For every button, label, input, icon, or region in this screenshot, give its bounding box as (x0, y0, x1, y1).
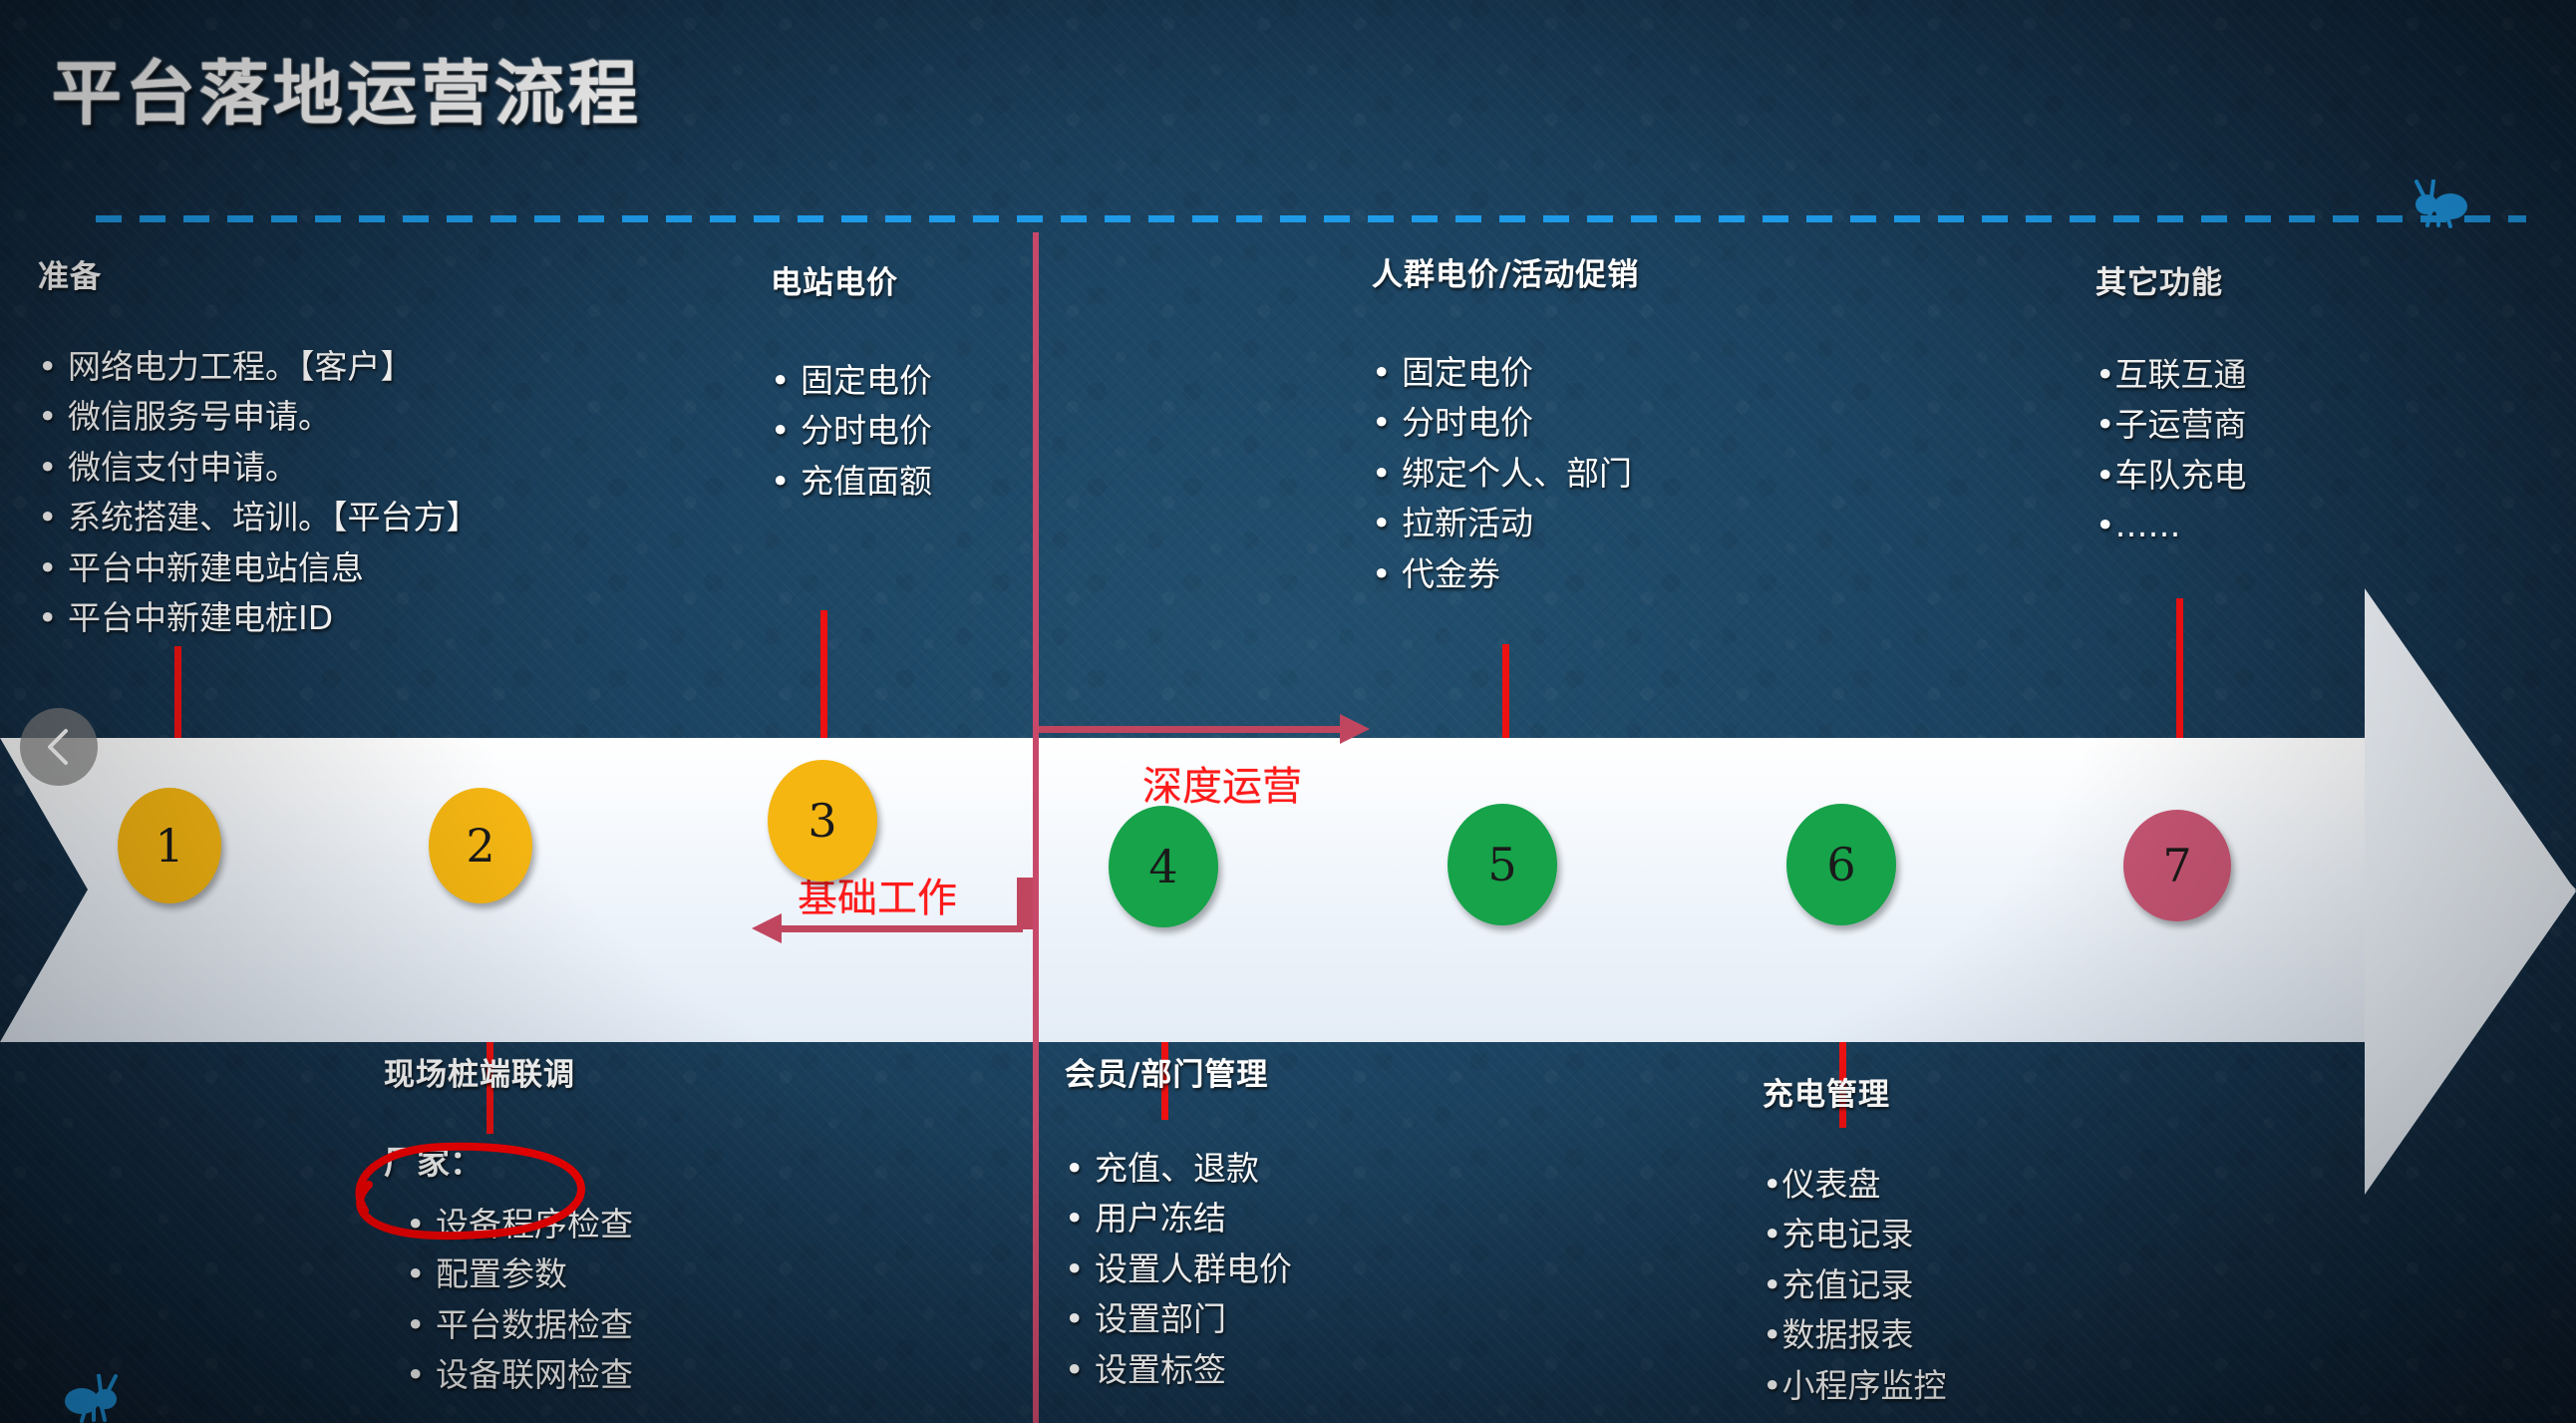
phase-arrow-head-basic (752, 913, 782, 943)
list-item: 微信支付申请。 (38, 443, 479, 493)
section-bullet-list: 固定电价 分时电价 绑定个人、部门 拉新活动 代金券 (1372, 348, 1639, 599)
list-item: 设置人群电价 (1065, 1245, 1292, 1294)
step-circle-5[interactable]: 5 (1448, 804, 1557, 925)
section-station-pricing: 电站电价 固定电价 分时电价 充值面额 (771, 257, 932, 507)
connector-tick (1502, 644, 1509, 738)
list-item: 网络电力工程。【客户】 (38, 342, 479, 392)
list-item: 设置部门 (1065, 1294, 1292, 1344)
section-crowd-pricing-promotion: 人群电价/活动促销 固定电价 分时电价 绑定个人、部门 拉新活动 代金券 (1372, 249, 1639, 599)
section-heading: 现场桩端联调 (384, 1049, 633, 1094)
list-item: 小程序监控 (1763, 1361, 1946, 1411)
dashed-divider-rule (96, 215, 2526, 222)
list-item: 平台中新建电站信息 (38, 543, 479, 593)
section-heading: 其它功能 (2095, 257, 2246, 302)
section-preparation: 准备 网络电力工程。【客户】 微信服务号申请。 微信支付申请。 系统搭建、培训。… (38, 251, 479, 644)
section-bullet-list: 互联互通 子运营商 车队充电 …… (2095, 350, 2246, 551)
section-bullet-list: 网络电力工程。【客户】 微信服务号申请。 微信支付申请。 系统搭建、培训。【平台… (38, 342, 479, 644)
back-button[interactable] (20, 708, 98, 786)
list-item: 互联互通 (2095, 350, 2246, 400)
section-heading: 准备 (38, 251, 479, 296)
list-item: 分时电价 (771, 406, 932, 456)
section-member-department-management: 会员/部门管理 充值、退款 用户冻结 设置人群电价 设置部门 设置标签 (1065, 1049, 1292, 1395)
list-item: 用户冻结 (1065, 1194, 1292, 1244)
connector-tick (820, 610, 827, 738)
list-item: 充电记录 (1763, 1210, 1946, 1259)
step-number: 4 (1148, 840, 1177, 893)
list-item: 充值、退款 (1065, 1144, 1292, 1194)
step-number: 3 (807, 794, 836, 848)
section-heading: 会员/部门管理 (1065, 1049, 1292, 1094)
list-item: 仪表盘 (1763, 1160, 1946, 1210)
step-circle-4[interactable]: 4 (1109, 806, 1218, 927)
step-number: 1 (155, 819, 183, 873)
list-item: 固定电价 (1372, 348, 1639, 398)
list-item: 充值记录 (1763, 1260, 1946, 1310)
step-circle-1[interactable]: 1 (118, 788, 221, 903)
ant-icon (2401, 179, 2470, 237)
list-item: 系统搭建、培训。【平台方】 (38, 493, 479, 542)
section-bullet-list: 仪表盘 充电记录 充值记录 数据报表 小程序监控 (1763, 1160, 1946, 1411)
connector-tick (174, 646, 181, 738)
list-item: …… (2095, 501, 2246, 550)
phase-divider-line (1033, 232, 1039, 1423)
phase-arrow-line-deep (1039, 726, 1346, 733)
ant-icon (62, 1374, 132, 1423)
section-bullet-list: 充值、退款 用户冻结 设置人群电价 设置部门 设置标签 (1065, 1144, 1292, 1395)
step-number: 7 (2162, 839, 2191, 892)
list-item: 微信服务号申请。 (38, 392, 479, 442)
phase-label-deep: 深度运营 (1142, 754, 1302, 812)
step-number: 6 (1826, 838, 1855, 891)
section-heading: 电站电价 (771, 257, 932, 302)
list-item: 配置参数 (406, 1249, 633, 1299)
list-item: 设置标签 (1065, 1345, 1292, 1395)
section-charging-management: 充电管理 仪表盘 充电记录 充值记录 数据报表 小程序监控 (1763, 1069, 1946, 1411)
step-circle-7[interactable]: 7 (2123, 810, 2231, 921)
list-item: 充值面额 (771, 457, 932, 507)
slide-canvas: 平台落地运营流程 (0, 0, 2576, 1423)
section-heading: 充电管理 (1763, 1069, 1946, 1114)
connector-tick (2176, 598, 2183, 738)
list-item: 绑定个人、部门 (1372, 449, 1639, 499)
step-circle-2[interactable]: 2 (429, 788, 532, 903)
hand-drawn-ellipse-icon (335, 1139, 594, 1254)
phase-arrow-head-deep (1340, 714, 1370, 744)
step-circle-3[interactable]: 3 (768, 760, 877, 882)
list-item: 拉新活动 (1372, 499, 1639, 548)
list-item: 分时电价 (1372, 398, 1639, 448)
section-other-features: 其它功能 互联互通 子运营商 车队充电 …… (2095, 257, 2246, 551)
list-item: 数据报表 (1763, 1310, 1946, 1360)
phase-arrow-line-basic (778, 925, 1023, 932)
list-item: 平台中新建电桩ID (38, 593, 479, 643)
step-number: 5 (1487, 838, 1516, 891)
section-bullet-list: 固定电价 分时电价 充值面额 (771, 356, 932, 507)
list-item: 子运营商 (2095, 400, 2246, 450)
step-number: 2 (466, 819, 494, 873)
chevron-left-icon (42, 725, 76, 769)
section-heading: 人群电价/活动促销 (1372, 249, 1639, 294)
list-item: 固定电价 (771, 356, 932, 406)
list-item: 车队充电 (2095, 451, 2246, 501)
list-item: 设备联网检查 (406, 1350, 633, 1400)
list-item: 平台数据检查 (406, 1300, 633, 1350)
list-item: 代金券 (1372, 549, 1639, 599)
page-title: 平台落地运营流程 (52, 38, 642, 139)
step-circle-6[interactable]: 6 (1786, 804, 1896, 925)
